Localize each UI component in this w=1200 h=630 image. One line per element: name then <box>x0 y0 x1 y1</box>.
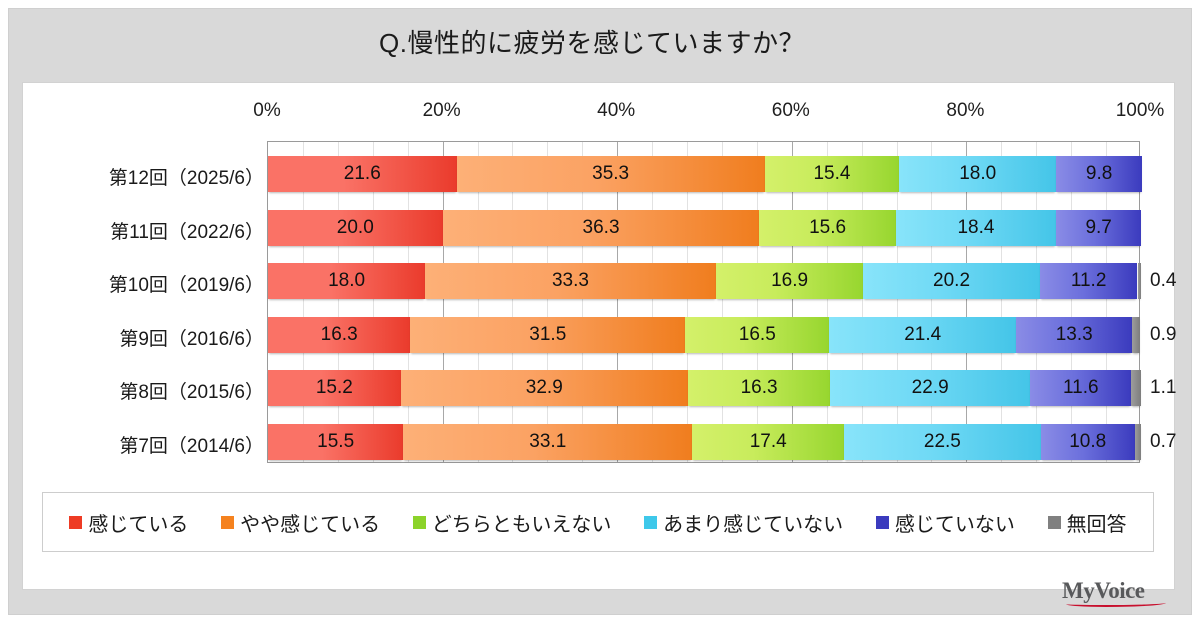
bar-segment: 31.5 <box>410 317 685 353</box>
bar-segment: 21.6 <box>268 156 457 192</box>
category-label-2: 第11回（2022/6） <box>32 217 264 244</box>
plot-area: 21.635.315.418.09.820.036.315.618.49.718… <box>267 141 1140 463</box>
bar-row: 16.331.516.521.413.30.9 <box>268 317 1141 353</box>
bar-segment: 35.3 <box>457 156 765 192</box>
bar-segment <box>1138 263 1141 299</box>
legend-label: 感じていない <box>895 508 1015 537</box>
chart-legend: 感じているやや感じているどちらともいえないあまり感じていない感じていない無回答 <box>42 492 1154 552</box>
bar-segment: 22.9 <box>830 370 1030 406</box>
legend-swatch-icon <box>221 516 234 529</box>
bar-segment: 9.8 <box>1056 156 1142 192</box>
legend-swatch-icon <box>69 516 82 529</box>
bar-segment: 15.2 <box>268 370 401 406</box>
bar-segment: 15.4 <box>765 156 899 192</box>
legend-label: 無回答 <box>1067 508 1127 537</box>
title-bar: Q.慢性的に疲労を感じていますか？ <box>9 9 1175 73</box>
bar-segment: 18.0 <box>268 263 425 299</box>
bar-segment: 16.3 <box>688 370 830 406</box>
bar-segment: 17.4 <box>692 424 844 460</box>
x-axis-tick-20: 20% <box>423 100 461 122</box>
legend-item-5[interactable]: 感じていない <box>876 508 1015 537</box>
bar-segment-outside-label: 0.9 <box>1150 317 1176 353</box>
bar-segment: 20.2 <box>863 263 1039 299</box>
bar-segment: 36.3 <box>443 210 760 246</box>
category-label-4: 第9回（2016/6） <box>32 324 264 351</box>
legend-item-2[interactable]: やや感じている <box>221 508 380 537</box>
bar-segment-outside-label: 1.1 <box>1150 370 1176 406</box>
legend-label: 感じている <box>88 508 188 537</box>
legend-label: あまり感じていない <box>663 508 843 537</box>
bar-segment <box>1131 370 1141 406</box>
x-axis-tick-0: 0% <box>253 100 280 122</box>
bar-segment: 18.0 <box>899 156 1056 192</box>
bar-segment: 21.4 <box>829 317 1016 353</box>
page-title: Q.慢性的に疲労を感じていますか？ <box>379 23 805 60</box>
legend-item-3[interactable]: どちらともいえない <box>413 508 612 537</box>
legend-swatch-icon <box>644 516 657 529</box>
bar-segment: 16.5 <box>685 317 829 353</box>
bar-segment <box>1132 317 1140 353</box>
x-axis-tick-60: 60% <box>772 100 810 122</box>
category-label-1: 第12回（2025/6） <box>32 163 264 190</box>
bar-segment: 33.3 <box>425 263 716 299</box>
bar-segment: 32.9 <box>401 370 688 406</box>
bar-segment: 18.4 <box>896 210 1057 246</box>
bar-segment: 22.5 <box>844 424 1040 460</box>
x-axis-tick-100: 100% <box>1116 100 1165 122</box>
category-label-6: 第7回（2014/6） <box>32 431 264 458</box>
legend-swatch-icon <box>1048 516 1061 529</box>
legend-item-1[interactable]: 感じている <box>69 508 188 537</box>
watermark-swoosh-icon <box>1066 600 1166 607</box>
bar-segment: 9.7 <box>1056 210 1141 246</box>
bar-segment: 13.3 <box>1016 317 1132 353</box>
bar-segment-outside-label: 0.4 <box>1150 263 1176 299</box>
bar-segment: 10.8 <box>1041 424 1135 460</box>
bar-row: 18.033.316.920.211.20.4 <box>268 263 1141 299</box>
chart-screenshot: Q.慢性的に疲労を感じていますか？ 0%20%40%60%80%100% 第12… <box>0 0 1200 630</box>
legend-swatch-icon <box>413 516 426 529</box>
bar-segment: 11.2 <box>1040 263 1138 299</box>
bar-row: 20.036.315.618.49.7 <box>268 210 1141 246</box>
category-label-5: 第8回（2015/6） <box>32 377 264 404</box>
legend-item-6[interactable]: 無回答 <box>1048 508 1127 537</box>
bar-segment: 11.6 <box>1030 370 1131 406</box>
legend-item-4[interactable]: あまり感じていない <box>644 508 843 537</box>
myvoice-watermark: MyVoice <box>1062 578 1172 608</box>
bar-segment-outside-label: 0.7 <box>1150 424 1176 460</box>
bar-segment: 15.6 <box>759 210 895 246</box>
legend-swatch-icon <box>876 516 889 529</box>
bar-segment: 33.1 <box>403 424 692 460</box>
x-axis-tick-40: 40% <box>597 100 635 122</box>
bar-row: 15.533.117.422.510.80.7 <box>268 424 1141 460</box>
y-axis-category-labels: 第12回（2025/6）第11回（2022/6）第10回（2019/6）第9回（… <box>24 141 264 463</box>
bar-segment <box>1135 424 1141 460</box>
category-label-3: 第10回（2019/6） <box>32 270 264 297</box>
bar-segment: 16.9 <box>716 263 864 299</box>
legend-label: やや感じている <box>240 508 380 537</box>
legend-label: どちらともいえない <box>432 508 612 537</box>
bar-segment: 20.0 <box>268 210 443 246</box>
bar-segment: 16.3 <box>268 317 410 353</box>
bar-row: 15.232.916.322.911.61.1 <box>268 370 1141 406</box>
bar-segment: 15.5 <box>268 424 403 460</box>
x-axis-tick-80: 80% <box>946 100 984 122</box>
bar-row: 21.635.315.418.09.8 <box>268 156 1141 192</box>
